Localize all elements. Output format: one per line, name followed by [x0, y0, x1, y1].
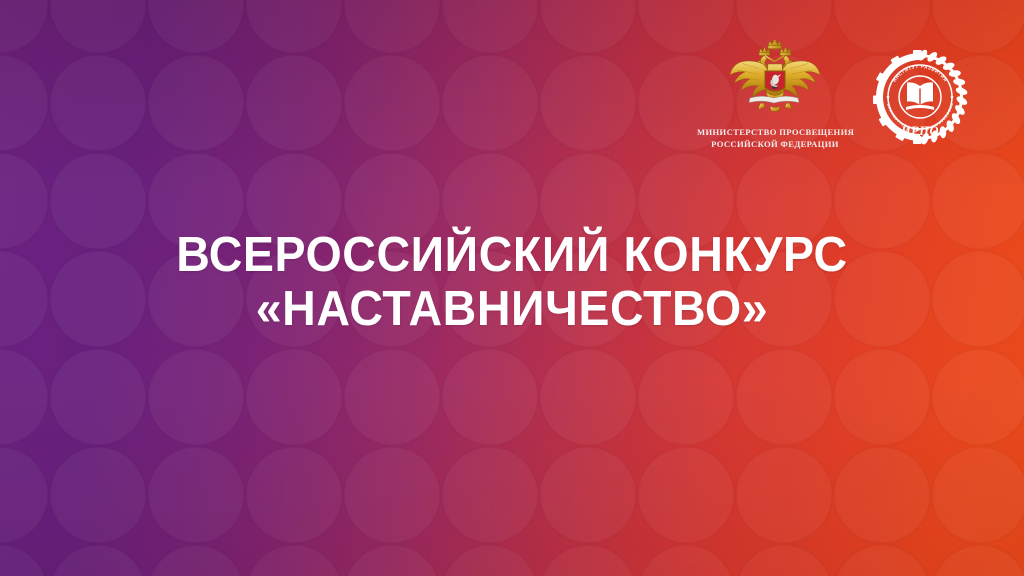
russian-double-headed-eagle-emblem [728, 40, 822, 122]
ministry-caption: МИНИСТЕРСТВО ПРОСВЕЩЕНИЯ РОССИЙСКОЙ ФЕДЕ… [697, 127, 853, 150]
irpo-abbreviation: ИРПО [900, 124, 939, 138]
ministry-caption-line1: МИНИСТЕРСТВО ПРОСВЕЩЕНИЯ [697, 127, 853, 139]
irpo-ring-text-top: ИНСТИТУТ РАЗВИТИЯ [892, 64, 949, 83]
ministry-caption-line2: РОССИЙСКОЙ ФЕДЕРАЦИИ [697, 139, 853, 151]
irpo-gear-laurel-book-emblem: ИНСТИТУТ РАЗВИТИЯ ПРОФЕССИОНАЛЬНОГО ОБРА… [870, 47, 970, 147]
open-book-icon [906, 82, 934, 110]
logo-bar: МИНИСТЕРСТВО ПРОСВЕЩЕНИЯ РОССИЙСКОЙ ФЕДЕ… [0, 0, 1024, 176]
page-title: ВСЕРОССИЙСКИЙ КОНКУРС «НАСТАВНИЧЕСТВО» [0, 228, 1024, 336]
ministry-logo: МИНИСТЕРСТВО ПРОСВЕЩЕНИЯ РОССИЙСКОЙ ФЕДЕ… [697, 40, 853, 162]
title-line-1: ВСЕРОССИЙСКИЙ КОНКУРС [26, 228, 999, 282]
title-line-2: «НАСТАВНИЧЕСТВО» [26, 282, 999, 336]
irpo-logo: ИНСТИТУТ РАЗВИТИЯ ПРОФЕССИОНАЛЬНОГО ОБРА… [870, 47, 970, 147]
presentation-slide: МИНИСТЕРСТВО ПРОСВЕЩЕНИЯ РОССИЙСКОЙ ФЕДЕ… [0, 0, 1024, 576]
